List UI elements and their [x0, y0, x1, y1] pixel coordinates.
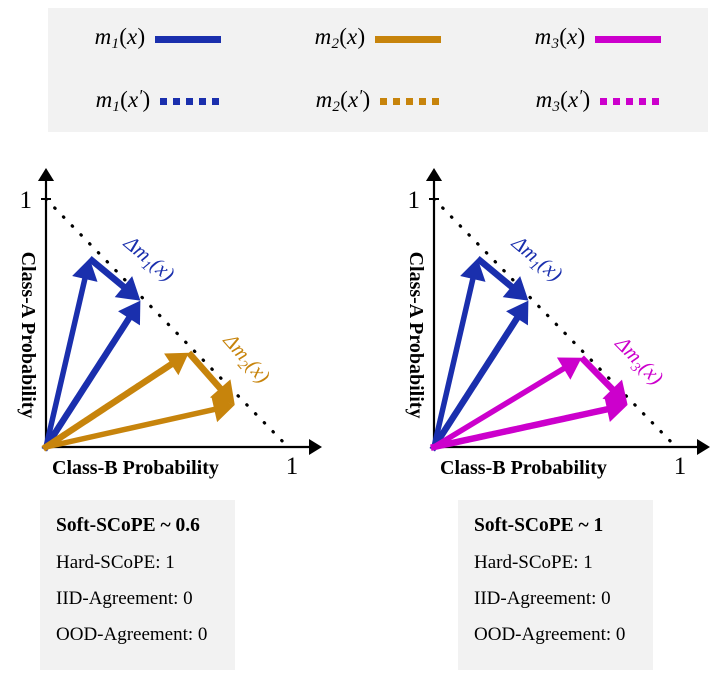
- delta-label-delta-m3: Δm3(x): [607, 331, 668, 393]
- delta-label-delta-m2: Δm2(x): [215, 328, 275, 391]
- caption-headline-left: Soft-SCoPE ~ 0.6: [56, 516, 219, 536]
- legend-label-m1-x: m1(x): [95, 25, 146, 52]
- legend-swatch-m1-xprime: [160, 98, 220, 105]
- legend-swatch-m2-xprime: [380, 98, 440, 105]
- y-tick-label-1: 1: [408, 187, 421, 214]
- caption-box-right: Soft-SCoPE ~ 1 Hard-SCoPE: 1 IID-Agreeme…: [458, 500, 653, 670]
- x-tick-label-1: 1: [674, 453, 687, 480]
- delta-arrow-delta-m2-shaft: [189, 353, 224, 393]
- legend-entry-m2-xprime: m2(x′): [316, 87, 441, 115]
- caption-hard-scope-right: Hard-SCoPE: 1: [474, 553, 637, 572]
- x-axis-label: Class-B Probability: [52, 457, 219, 479]
- legend-entry-m3-xprime: m3(x′): [536, 87, 661, 115]
- plot-panel-right: Δm1(x)Δm3(x)Class-B ProbabilityClass-A P…: [388, 150, 726, 490]
- y-axis-head: [426, 168, 442, 181]
- simplex-dotted-line: [434, 199, 676, 447]
- x-axis-head: [309, 439, 322, 455]
- simplex-dotted-line: [46, 199, 288, 447]
- delta-arrow-delta-m1: [90, 259, 141, 301]
- legend-label-m1-xprime: m1(x′): [96, 87, 151, 115]
- legend-label-m2-x: m2(x): [315, 25, 366, 52]
- x-tick-label-1: 1: [286, 453, 299, 480]
- x-axis-head: [697, 439, 710, 455]
- legend-swatch-m3-xprime: [600, 98, 660, 105]
- legend-swatch-m3-x: [595, 36, 661, 43]
- legend-grid: m1(x) m2(x) m3(x) m1(x′) m2(x′) m3(x′): [48, 8, 708, 132]
- delta-arrow-delta-m3: [582, 358, 628, 405]
- legend-swatch-m1-x: [155, 36, 221, 43]
- legend-label-m3-xprime: m3(x′): [536, 87, 591, 115]
- caption-hard-scope-left: Hard-SCoPE: 1: [56, 553, 219, 572]
- plot-panel-left: Δm1(x)Δm2(x)Class-B ProbabilityClass-A P…: [0, 150, 340, 490]
- y-axis: [426, 168, 442, 447]
- legend-swatch-m2-x: [375, 36, 441, 43]
- legend-entry-m2-x: m2(x): [315, 25, 442, 52]
- legend-entry-m3-x: m3(x): [535, 25, 662, 52]
- x-axis-label: Class-B Probability: [440, 457, 607, 479]
- delta-arrow-delta-m1-shaft: [90, 259, 128, 291]
- caption-ood-agreement-right: OOD-Agreement: 0: [474, 625, 637, 644]
- legend-label-m2-xprime: m2(x′): [316, 87, 371, 115]
- delta-arrow-delta-m1: [478, 259, 529, 301]
- legend-entry-m1-x: m1(x): [95, 25, 222, 52]
- plot-svg-left: Δm1(x)Δm2(x)Class-B ProbabilityClass-A P…: [0, 150, 340, 490]
- delta-arrow-delta-m1-shaft: [478, 259, 516, 291]
- y-axis-label: Class-A Probability: [17, 252, 39, 419]
- legend-entry-m1-xprime: m1(x′): [96, 87, 221, 115]
- delta-arrow-delta-m2: [189, 353, 235, 405]
- legend-label-m3-x: m3(x): [535, 25, 586, 52]
- caption-headline-right: Soft-SCoPE ~ 1: [474, 516, 637, 536]
- y-axis-label: Class-A Probability: [405, 252, 427, 419]
- caption-box-left: Soft-SCoPE ~ 0.6 Hard-SCoPE: 1 IID-Agree…: [40, 500, 235, 670]
- plot-svg-right: Δm1(x)Δm3(x)Class-B ProbabilityClass-A P…: [388, 150, 726, 490]
- caption-ood-agreement-left: OOD-Agreement: 0: [56, 625, 219, 644]
- caption-iid-agreement-left: IID-Agreement: 0: [56, 589, 219, 608]
- figure-root: m1(x) m2(x) m3(x) m1(x′) m2(x′) m3(x′): [0, 0, 726, 683]
- y-axis-head: [38, 168, 54, 181]
- y-tick-label-1: 1: [20, 187, 33, 214]
- legend-panel: m1(x) m2(x) m3(x) m1(x′) m2(x′) m3(x′): [48, 8, 708, 132]
- y-axis: [38, 168, 54, 447]
- vector-m3-xprime-dotted-shaft: [434, 408, 612, 447]
- caption-iid-agreement-right: IID-Agreement: 0: [474, 589, 637, 608]
- delta-arrow-delta-m3-shaft: [582, 358, 616, 393]
